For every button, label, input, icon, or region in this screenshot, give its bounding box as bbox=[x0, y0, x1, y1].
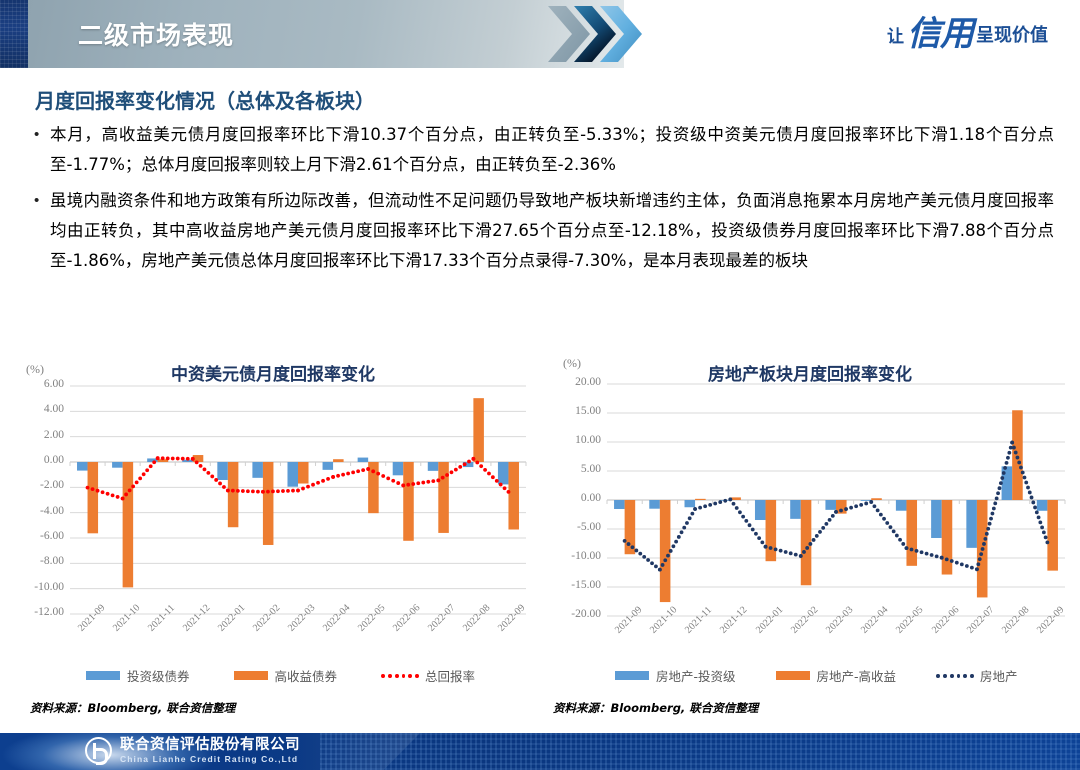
brand-suffix: 呈现价值 bbox=[976, 21, 1048, 47]
company-name-en: China Lianhe Credit Rating Co.,Ltd bbox=[120, 754, 300, 764]
brand-prefix: 让 bbox=[887, 22, 904, 47]
section-heading: 月度回报率变化情况（总体及各板块） bbox=[35, 85, 375, 114]
y-axis-tick-label: 10.00 bbox=[545, 434, 601, 446]
slide-page: 二级市场表现 bbox=[0, 0, 1080, 770]
y-axis-tick-label: 20.00 bbox=[545, 376, 601, 388]
chart-source-note: 资料来源：Bloomberg, 联合资信整理 bbox=[30, 700, 235, 716]
bullet-text: 虽境内融资条件和地方政策有所边际改善，但流动性不足问题仍导致地产板块新增违约主体… bbox=[50, 186, 1054, 276]
legend-color-swatch bbox=[615, 671, 649, 680]
slide-header: 二级市场表现 bbox=[0, 0, 1080, 68]
y-axis-tick-label: -20.00 bbox=[545, 608, 601, 620]
legend-dotted-line-swatch bbox=[936, 671, 974, 680]
y-axis-tick-label: -12.00 bbox=[8, 606, 64, 618]
list-item: • 虽境内融资条件和地方政策有所边际改善，但流动性不足问题仍导致地产板块新增违约… bbox=[34, 186, 1054, 276]
y-axis-tick-label: 15.00 bbox=[545, 405, 601, 417]
header-left-accent-bar bbox=[0, 0, 28, 68]
legend-item[interactable]: 房地产-高收益 bbox=[776, 666, 897, 685]
legend-item[interactable]: 投资级债券 bbox=[86, 666, 190, 685]
y-axis-tick-label: -10.00 bbox=[8, 581, 64, 593]
chart-source-note: 资料来源：Bloomberg, 联合资信整理 bbox=[553, 700, 758, 716]
legend-label: 房地产-高收益 bbox=[817, 666, 897, 685]
legend-color-swatch bbox=[234, 671, 268, 680]
y-axis-tick-label: -4.00 bbox=[8, 505, 64, 517]
y-axis-tick-label: 6.00 bbox=[8, 378, 64, 390]
legend-item[interactable]: 高收益债券 bbox=[234, 666, 338, 685]
chart-plot-area bbox=[8, 378, 538, 628]
y-axis-tick-label: -15.00 bbox=[545, 579, 601, 591]
slide-footer: 联合资信评估股份有限公司 China Lianhe Credit Rating … bbox=[0, 733, 1080, 770]
chart-real-estate-sector: (%) 房地产板块月度回报率变化 2021-092021-102021-1120… bbox=[545, 348, 1075, 708]
bullet-text: 本月，高收益美元债月度回报率环比下滑10.37个百分点，由正转负至-5.33%；… bbox=[50, 120, 1054, 180]
y-axis-tick-label: 2.00 bbox=[8, 429, 64, 441]
legend-dotted-line-swatch bbox=[381, 671, 419, 680]
y-axis-tick-label: -8.00 bbox=[8, 555, 64, 567]
brand-tagline: 让 信用 呈现价值 bbox=[887, 12, 1048, 56]
chevron-icon-3 bbox=[600, 6, 642, 62]
footer-wedge-decoration bbox=[290, 733, 420, 770]
bullet-list: • 本月，高收益美元债月度回报率环比下滑10.37个百分点，由正转负至-5.33… bbox=[34, 120, 1054, 282]
company-name-cn: 联合资信评估股份有限公司 bbox=[120, 737, 300, 754]
chart-plot-area bbox=[545, 374, 1075, 630]
y-axis-tick-label: 4.00 bbox=[8, 403, 64, 415]
y-axis-tick-label: 0.00 bbox=[8, 454, 64, 466]
company-name-block: 联合资信评估股份有限公司 China Lianhe Credit Rating … bbox=[120, 737, 300, 764]
legend-label: 高收益债券 bbox=[275, 666, 338, 685]
legend-item[interactable]: 总回报率 bbox=[381, 666, 475, 685]
legend-item[interactable]: 房地产 bbox=[936, 666, 1018, 685]
y-axis-tick-label: 0.00 bbox=[545, 492, 601, 504]
company-logo: 联合资信评估股份有限公司 China Lianhe Credit Rating … bbox=[85, 737, 300, 764]
legend-color-swatch bbox=[776, 671, 810, 680]
bullet-marker-icon: • bbox=[34, 186, 50, 216]
chart-china-usd-bond: (%) 中资美元债月度回报率变化 2021-092021-102021-1120… bbox=[8, 348, 538, 708]
lianhe-mark-icon bbox=[85, 737, 112, 764]
y-axis-tick-label: -2.00 bbox=[8, 479, 64, 491]
chart-legend: 房地产-投资级房地产-高收益房地产 bbox=[615, 666, 1018, 685]
bullet-marker-icon: • bbox=[34, 120, 50, 150]
brand-main: 信用 bbox=[907, 17, 973, 51]
legend-label: 总回报率 bbox=[425, 666, 475, 685]
y-axis-tick-label: -5.00 bbox=[545, 521, 601, 533]
legend-label: 房地产-投资级 bbox=[656, 666, 736, 685]
legend-color-swatch bbox=[86, 671, 120, 680]
legend-item[interactable]: 房地产-投资级 bbox=[615, 666, 736, 685]
legend-label: 房地产 bbox=[980, 666, 1018, 685]
list-item: • 本月，高收益美元债月度回报率环比下滑10.37个百分点，由正转负至-5.33… bbox=[34, 120, 1054, 180]
y-axis-tick-label: 5.00 bbox=[545, 463, 601, 475]
y-axis-tick-label: -6.00 bbox=[8, 530, 64, 542]
chart-legend: 投资级债券高收益债券总回报率 bbox=[86, 666, 475, 685]
legend-label: 投资级债券 bbox=[127, 666, 190, 685]
y-axis-tick-label: -10.00 bbox=[545, 550, 601, 562]
page-title: 二级市场表现 bbox=[78, 16, 234, 52]
